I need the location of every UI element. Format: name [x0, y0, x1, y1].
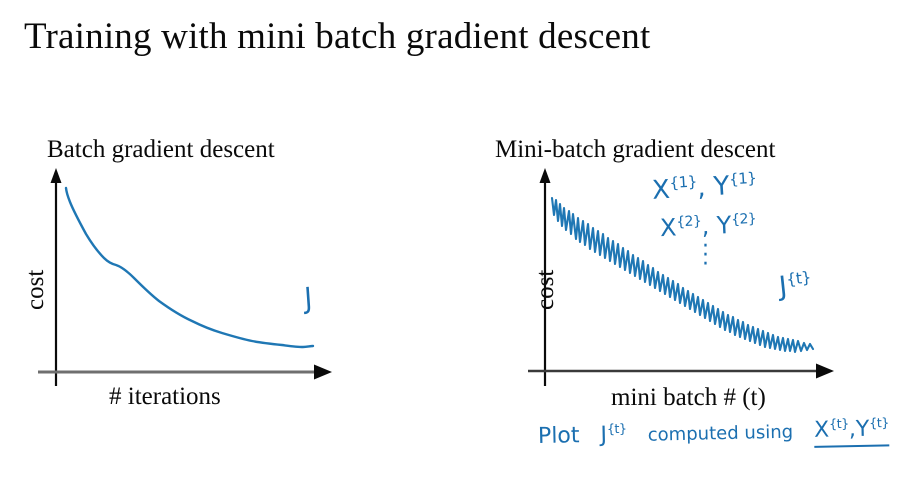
minibatch-2-x-sup: {2} [676, 213, 702, 230]
right-chart-x-axis-arrowhead [816, 364, 834, 379]
left-chart-plot [0, 0, 452, 477]
minibatch-annotation-1: X{1}, Y{1} [651, 169, 757, 206]
note-x-base: X [814, 418, 830, 443]
minibatch-ellipsis: · · · [702, 242, 709, 269]
left-chart-panel: Batch gradient descent cost # iterations… [0, 0, 452, 477]
note-part2: computed using [647, 422, 793, 446]
note-y-base: Y [856, 417, 870, 442]
right-chart-panel: Mini-batch gradient descent cost mini ba… [452, 0, 904, 477]
left-chart-cost-curve [66, 188, 313, 347]
left-chart-x-axis-arrowhead [314, 365, 332, 380]
minibatch-1-y-base: Y [713, 171, 731, 202]
minibatch-2-y-sup: {2} [731, 211, 757, 228]
right-chart-y-axis-arrowhead [540, 168, 551, 183]
note-data-terms: X{t},Y{t} [814, 417, 890, 449]
minibatch-1-y-sup: {1} [729, 169, 757, 189]
note-x-sup: {t} [829, 417, 849, 432]
ellipsis-dot-3: · [702, 260, 709, 269]
right-curve-j-sup: {t} [785, 267, 811, 288]
minibatch-2-x-base: X [659, 213, 677, 242]
note-y-sup: {t} [869, 416, 889, 431]
minibatch-1-x-base: X [651, 175, 671, 206]
left-chart-y-axis-arrowhead [51, 168, 62, 183]
minibatch-1-x-sup: {1} [669, 172, 697, 192]
right-chart-curve-annotation: J{t} [777, 267, 813, 302]
note-part1: Plot [538, 423, 580, 449]
slide-canvas: Training with mini batch gradient descen… [0, 0, 904, 477]
minibatch-1-comma: , [696, 172, 714, 203]
note-j-sup: {t} [607, 422, 627, 437]
